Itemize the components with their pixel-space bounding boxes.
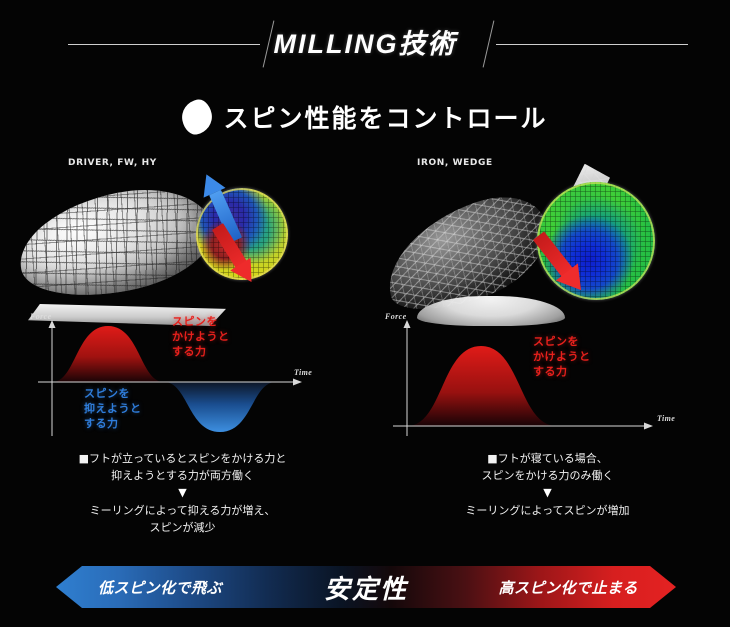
subtitle-row: スピン性能をコントロール (0, 96, 730, 138)
caption-line: スピンをかける力のみ働く (365, 467, 730, 484)
panel-iron: IRON, WEDGE Force Time (365, 150, 730, 560)
leaf-icon (179, 97, 215, 136)
mesh-overlay-secondary (10, 176, 221, 310)
caption-result-line: ミーリングによって抑える力が増え、 (0, 502, 365, 519)
header-rule-right (496, 44, 688, 45)
caption-result-line: ミーリングによってスピンが増加 (365, 502, 730, 519)
impact-ball-heatmap-icon (537, 182, 655, 300)
caption-iron: ■フトが寝ている場合、 スピンをかける力のみ働く ▼ ミーリングによってスピンが… (365, 450, 730, 519)
render-scene-iron (365, 168, 730, 326)
label-line: する力 (533, 364, 591, 379)
header: MILLING技術 (0, 18, 730, 70)
spectrum-right-label: 高スピン化で止まる (498, 577, 638, 598)
caption-line: ■フトが寝ている場合、 (365, 450, 730, 467)
label-line: スピンを (84, 386, 142, 401)
graph-iron: Force Time (385, 310, 695, 440)
caption-driver: ■フトが立っているとスピンをかける力と 抑えようとする力が両方働く ▼ ミーリン… (0, 450, 365, 536)
graph-positive-label-iron: スピンを かけようと する力 (533, 334, 591, 379)
ball-rim (537, 182, 655, 300)
driver-head-mesh-icon (10, 176, 221, 310)
spin-spectrum-bar: 低スピン化で飛ぶ 安定性 高スピン化で止まる (56, 566, 676, 608)
down-triangle-icon: ▼ (0, 485, 365, 501)
label-line: 抑えようと (84, 401, 142, 416)
graph-driver: Force Time (30, 310, 340, 440)
label-line: スピンを (172, 314, 230, 329)
caption-result-line: スピンが減少 (0, 519, 365, 536)
graph-positive-label-driver: スピンを かけようと する力 (172, 314, 230, 359)
down-triangle-icon: ▼ (365, 485, 730, 501)
label-line: かけようと (172, 329, 230, 344)
club-label-driver: DRIVER, FW, HY (68, 158, 157, 168)
label-line: する力 (172, 344, 230, 359)
club-label-iron: IRON, WEDGE (417, 158, 493, 168)
page-root: MILLING技術 スピン性能をコントロール DRIVER, FW, HY (0, 0, 730, 627)
label-line: する力 (84, 416, 142, 431)
graph-negative-label-driver: スピンを 抑えようと する力 (84, 386, 142, 431)
panel-driver: DRIVER, FW, HY Force Time (0, 150, 365, 560)
label-line: かけようと (533, 349, 591, 364)
caption-line: ■フトが立っているとスピンをかける力と (0, 450, 365, 467)
caption-line: 抑えようとする力が両方働く (0, 467, 365, 484)
render-scene-driver (0, 168, 365, 326)
subtitle-text: スピン性能をコントロール (223, 99, 547, 135)
label-line: スピンを (533, 334, 591, 349)
